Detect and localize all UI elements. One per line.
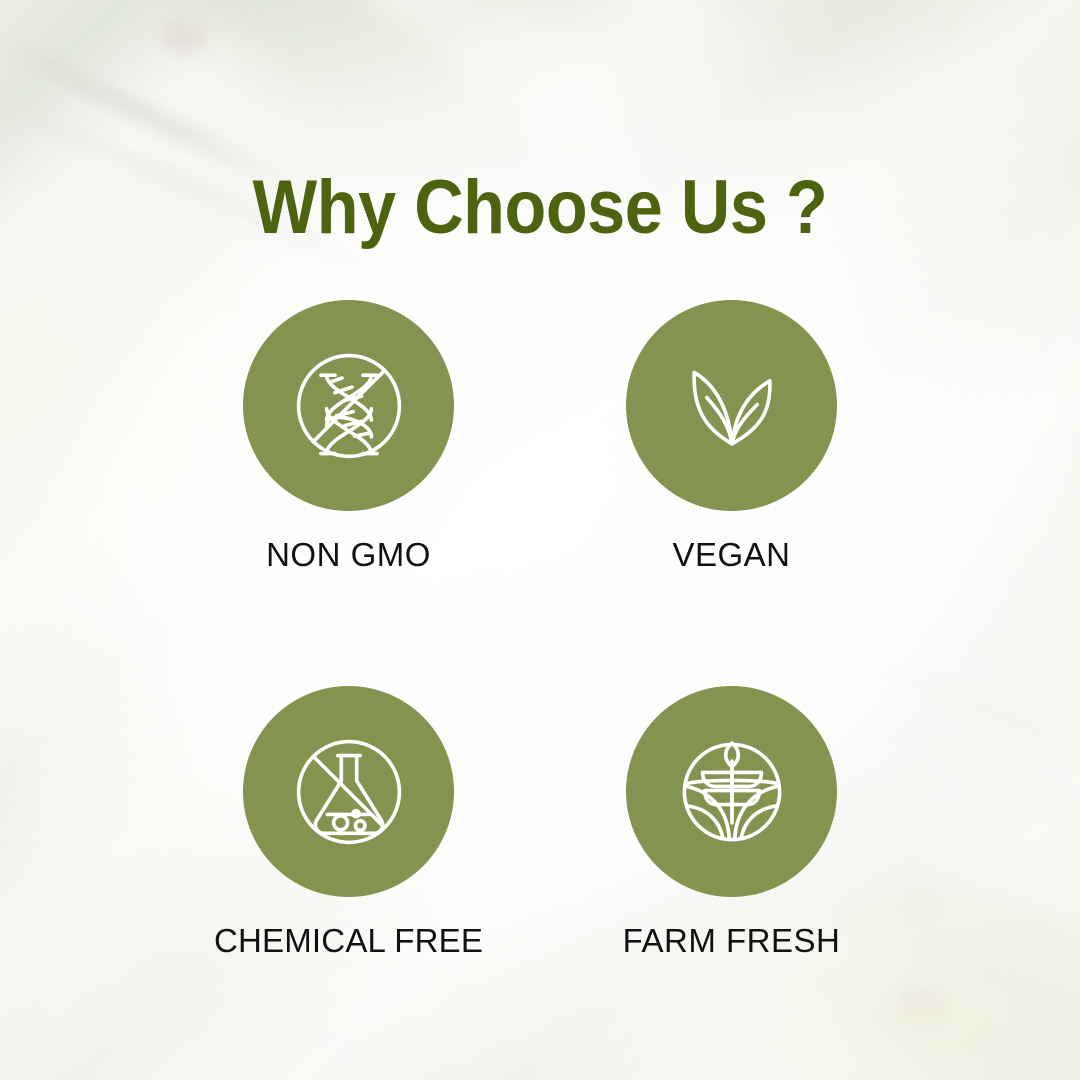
feature-item-chemical-free[interactable]: CHEMICAL FREE [157, 686, 540, 960]
feature-item-non-gmo[interactable]: NON GMO [157, 300, 540, 574]
feature-row-2: CHEMICAL FREE [0, 686, 1080, 960]
wheat-field-icon [662, 722, 802, 862]
page-title: Why Choose Us ? [54, 170, 1026, 246]
feature-label: VEGAN [672, 536, 790, 574]
feature-item-farm-fresh[interactable]: FARM FRESH [540, 686, 923, 960]
feature-label: FARM FRESH [623, 922, 841, 960]
no-chemical-flask-icon [279, 722, 419, 862]
feature-badge-chemical-free[interactable] [243, 686, 454, 897]
feature-item-vegan[interactable]: VEGAN [540, 300, 923, 574]
feature-label: NON GMO [266, 536, 431, 574]
two-leaves-icon [662, 336, 802, 476]
feature-row-1: NON GMO [0, 300, 1080, 574]
feature-badge-vegan[interactable] [626, 300, 837, 511]
no-gmo-dna-icon [279, 336, 419, 476]
feature-badge-farm-fresh[interactable] [626, 686, 837, 897]
feature-badge-non-gmo[interactable] [243, 300, 454, 511]
feature-label: CHEMICAL FREE [214, 922, 483, 960]
feature-grid: NON GMO [0, 300, 1080, 960]
poster-canvas: Why Choose Us ? [0, 0, 1080, 1080]
poster-content: Why Choose Us ? [0, 0, 1080, 1080]
